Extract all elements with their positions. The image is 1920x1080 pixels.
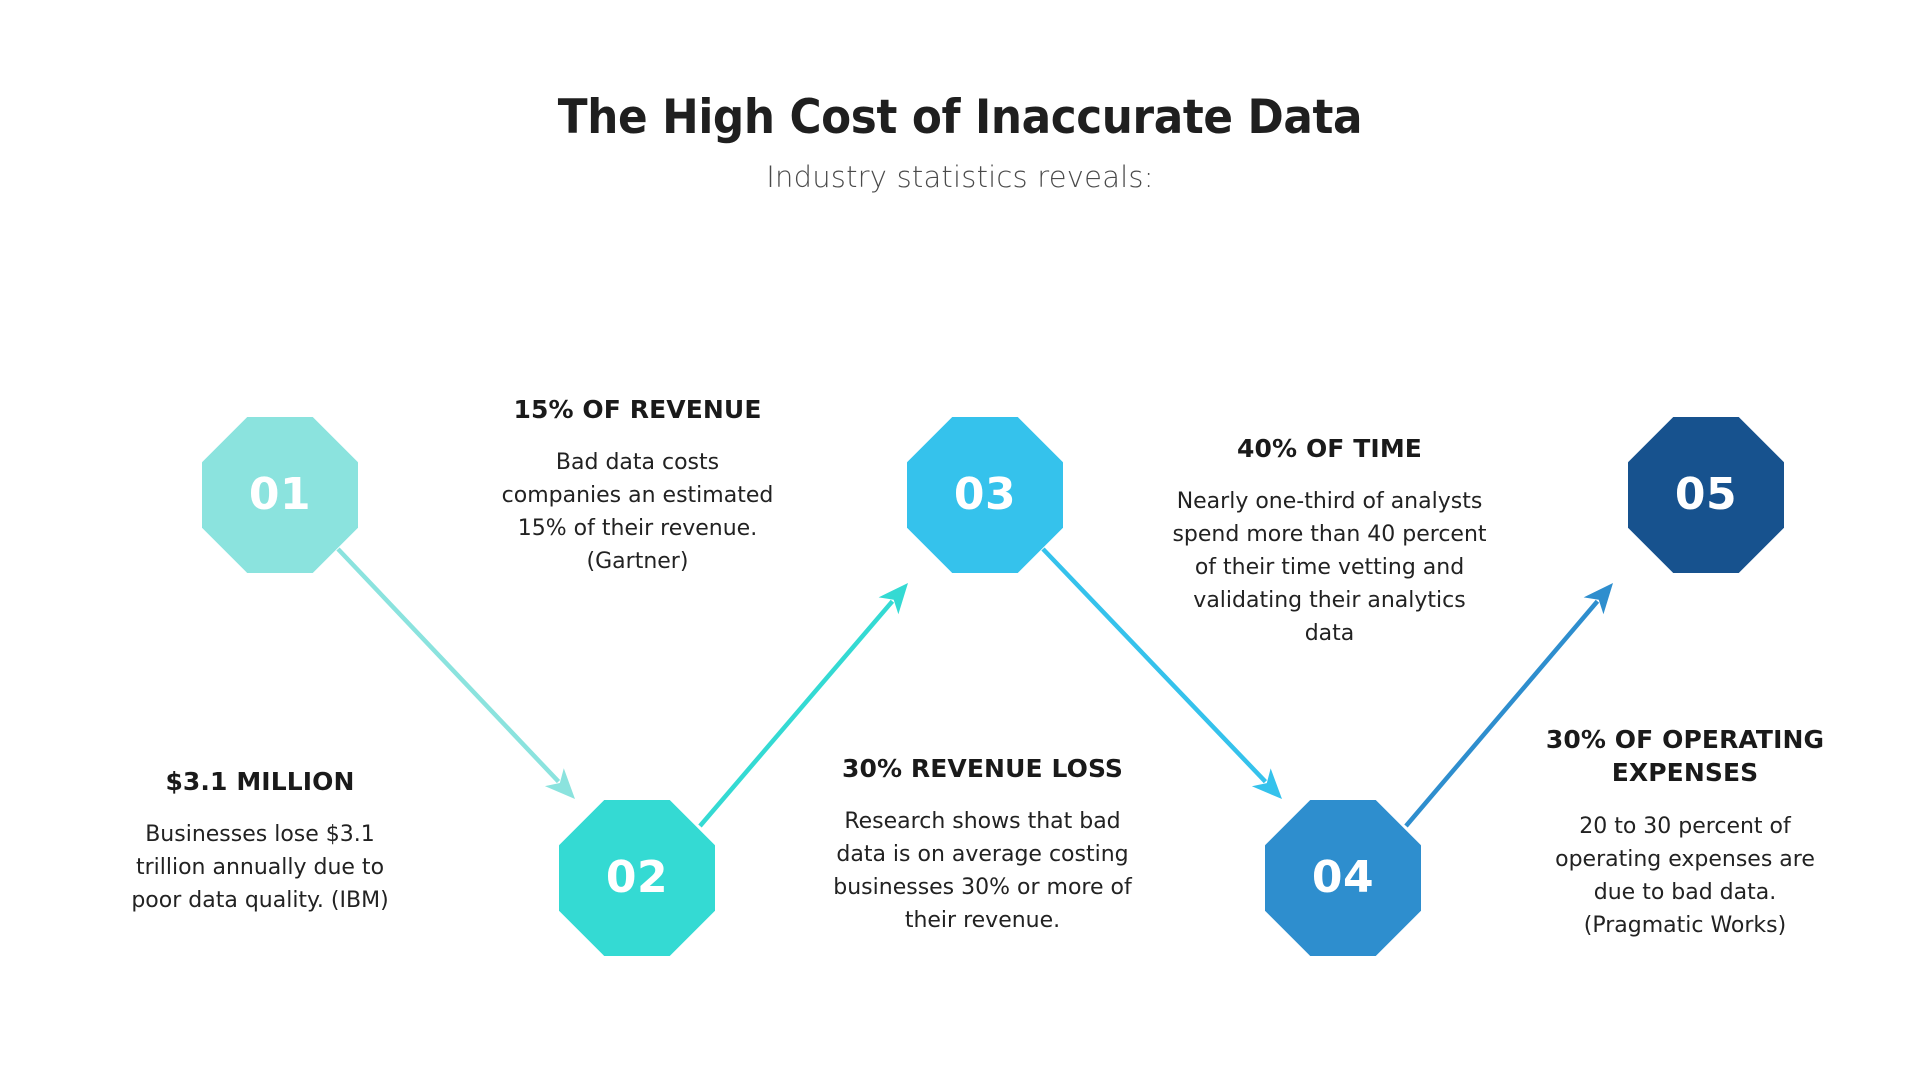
stat-block-5: 30% OF OPERATING EXPENSES 20 to 30 perce…	[1540, 723, 1830, 942]
page-title: The High Cost of Inaccurate Data	[67, 0, 1853, 145]
step-node-04[interactable]: 04	[1265, 800, 1421, 956]
stat-block-1: $3.1 MILLION Businesses lose $3.1 trilli…	[110, 765, 410, 917]
header: The High Cost of Inaccurate Data Industr…	[0, 0, 1920, 194]
stat-heading: 40% OF TIME	[1167, 432, 1492, 465]
stat-body: Businesses lose $3.1 trillion annually d…	[110, 798, 410, 917]
stat-heading: 30% REVENUE LOSS	[830, 752, 1135, 785]
step-node-label: 01	[249, 473, 311, 517]
step-node-label: 02	[606, 856, 668, 900]
step-node-label: 04	[1312, 856, 1374, 900]
step-node-label: 05	[1675, 473, 1737, 517]
stat-heading: 30% OF OPERATING EXPENSES	[1540, 723, 1830, 790]
stat-body: 20 to 30 percent of operating expenses a…	[1540, 790, 1830, 942]
stat-block-3: 30% REVENUE LOSS Research shows that bad…	[830, 752, 1135, 937]
connector-arrow-01-to-02	[338, 549, 575, 799]
stat-body: Nearly one-third of analysts spend more …	[1167, 465, 1492, 650]
stat-heading: 15% OF REVENUE	[495, 393, 780, 426]
page-subtitle: Industry statistics reveals:	[0, 145, 1920, 194]
stat-body: Bad data costs companies an estimated 15…	[495, 426, 780, 578]
step-node-01[interactable]: 01	[202, 417, 358, 573]
step-node-02[interactable]: 02	[559, 800, 715, 956]
stat-block-4: 40% OF TIME Nearly one-third of analysts…	[1167, 432, 1492, 650]
step-node-03[interactable]: 03	[907, 417, 1063, 573]
infographic-canvas: The High Cost of Inaccurate Data Industr…	[0, 0, 1920, 1080]
step-node-label: 03	[954, 473, 1016, 517]
stat-block-2: 15% OF REVENUE Bad data costs companies …	[495, 393, 780, 578]
stat-heading: $3.1 MILLION	[110, 765, 410, 798]
step-node-05[interactable]: 05	[1628, 417, 1784, 573]
stat-body: Research shows that bad data is on avera…	[830, 785, 1135, 937]
